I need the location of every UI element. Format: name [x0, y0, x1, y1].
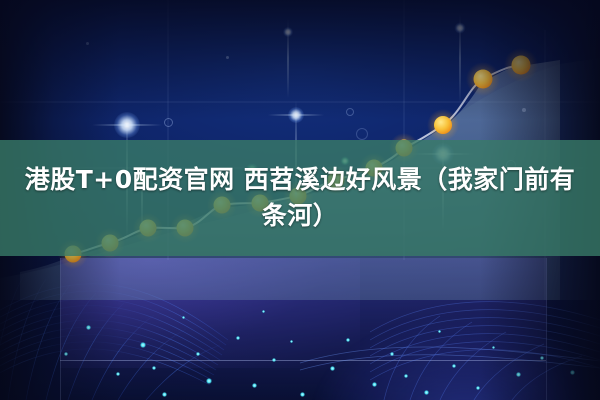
page-title: 港股T+0配资官网 西苕溪边好风景（我家门前有条河）	[17, 162, 583, 234]
title-line-2: 河）	[287, 201, 338, 230]
title-band: 港股T+0配资官网 西苕溪边好风景（我家门前有条河）	[0, 140, 600, 256]
cover-image-canvas: 港股T+0配资官网 西苕溪边好风景（我家门前有条河）	[0, 0, 600, 400]
top-fade	[0, 0, 600, 120]
